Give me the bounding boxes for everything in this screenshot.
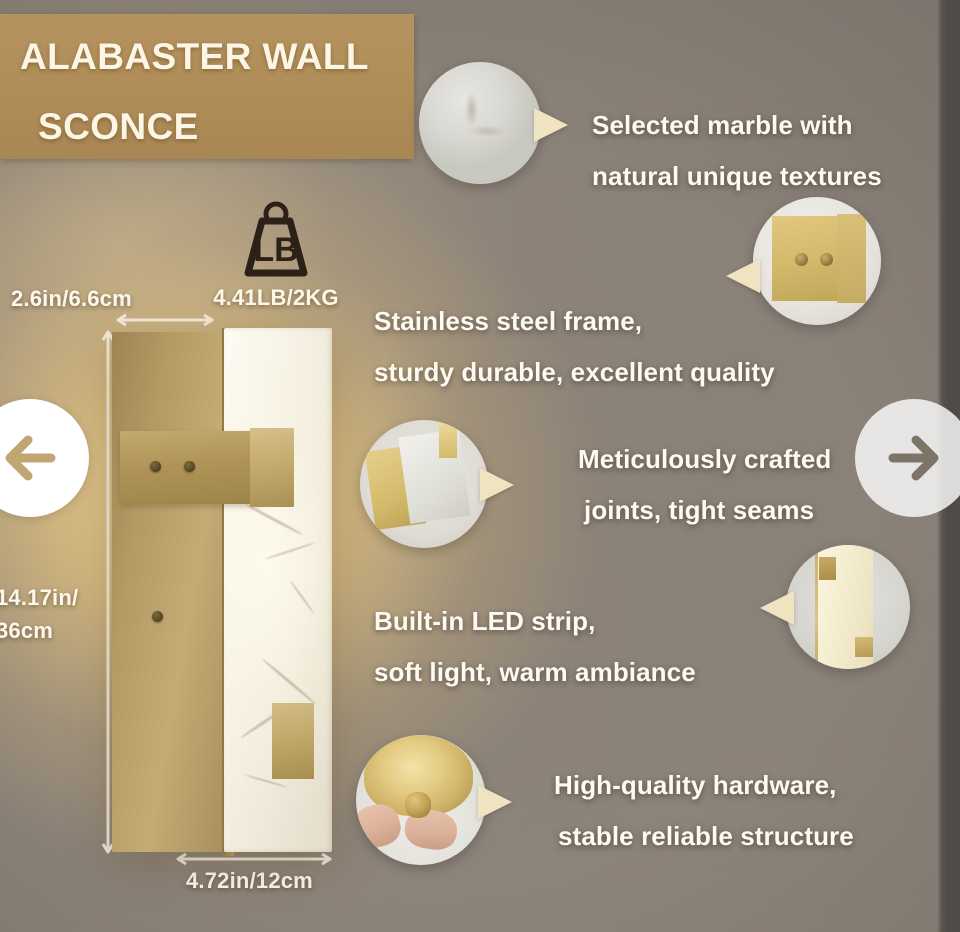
callout-pointer-icon xyxy=(534,108,568,142)
joint-marble-bar xyxy=(398,429,471,524)
feature-marble-line-2: natural unique textures xyxy=(592,151,882,202)
weight-lb-icon: LB xyxy=(232,195,320,283)
led-clip-top xyxy=(819,557,835,579)
svg-text:LB: LB xyxy=(253,231,298,269)
marble-swatch-photo xyxy=(419,62,541,184)
feature-text-marble: Selected marble with natural unique text… xyxy=(592,100,882,202)
feature-text-joints: Meticulously crafted joints, tight seams xyxy=(578,434,831,536)
depth-dimension-label: 2.6in/6.6cm xyxy=(11,286,132,312)
product-infographic-image: ALABASTER WALL SCONCE LB 4.41LB/2KG 2.6i… xyxy=(0,0,960,932)
callout-pointer-icon xyxy=(760,591,794,625)
bracket-screw xyxy=(184,461,195,472)
feature-frame-line-2: sturdy durable, excellent quality xyxy=(374,347,775,398)
brass-back-plate xyxy=(112,332,230,852)
feature-hardware-line-1: High-quality hardware, xyxy=(554,760,854,811)
bracket-side-tab xyxy=(250,428,294,507)
feature-joints-line-1: Meticulously crafted xyxy=(578,434,831,485)
bracket-screw xyxy=(150,461,161,472)
title-line-1: ALABASTER WALL xyxy=(20,36,369,78)
joint-gold-tip xyxy=(439,423,457,459)
feature-photo-hardware xyxy=(356,735,486,865)
feature-joints-line-2: joints, tight seams xyxy=(578,485,831,536)
feature-marble-line-1: Selected marble with xyxy=(592,100,882,151)
feature-hardware-line-2: stable reliable structure xyxy=(554,811,854,862)
title-banner: ALABASTER WALL SCONCE xyxy=(0,14,414,159)
arrow-left-icon xyxy=(0,427,61,489)
lower-brass-accent xyxy=(272,703,314,779)
bracket-screw xyxy=(820,253,833,266)
plate-screw xyxy=(152,611,163,622)
height-dimension-label: 14.17in/ 36cm xyxy=(0,581,78,647)
feature-photo-joints xyxy=(360,420,488,548)
callout-pointer-icon xyxy=(726,259,760,293)
feature-led-line-1: Built-in LED strip, xyxy=(374,596,696,647)
height-dimension-line-1: 14.17in/ xyxy=(0,581,78,614)
led-clip-bottom xyxy=(855,637,872,657)
callout-pointer-icon xyxy=(478,785,512,819)
feature-text-hardware: High-quality hardware, stable reliable s… xyxy=(554,760,854,862)
title-line-2: SCONCE xyxy=(38,106,199,148)
feature-led-line-2: soft light, warm ambiance xyxy=(374,647,696,698)
product-sconce-illustration xyxy=(112,328,334,856)
callout-pointer-icon xyxy=(480,468,514,502)
arrow-right-icon xyxy=(883,427,945,489)
feature-frame-line-1: Stainless steel frame, xyxy=(374,296,775,347)
hardware-knob xyxy=(405,792,431,818)
feature-photo-led xyxy=(786,545,910,669)
joint-seam-photo xyxy=(360,420,488,548)
weight-block: LB 4.41LB/2KG xyxy=(196,195,356,311)
height-dimension-line-2: 36cm xyxy=(0,614,78,647)
feature-photo-marble xyxy=(419,62,541,184)
led-strip-photo xyxy=(786,545,910,669)
hardware-canopy-photo xyxy=(356,735,486,865)
weight-value: 4.41LB/2KG xyxy=(196,285,356,311)
feature-text-frame: Stainless steel frame, sturdy durable, e… xyxy=(374,296,775,398)
width-dimension-label: 4.72in/12cm xyxy=(186,868,313,894)
feature-text-led: Built-in LED strip, soft light, warm amb… xyxy=(374,596,696,698)
bracket-block-side xyxy=(837,214,865,304)
